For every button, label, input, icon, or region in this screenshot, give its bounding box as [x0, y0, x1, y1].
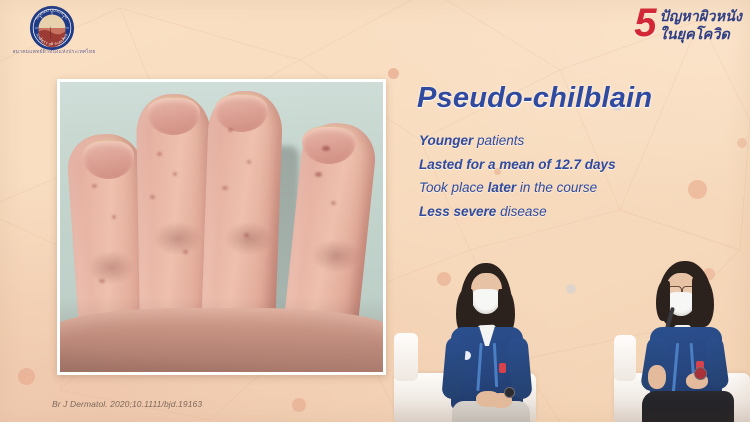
sofa-left-back: [394, 333, 418, 381]
bullet-list: Younger patients Lasted for a mean of 12…: [419, 133, 729, 228]
thai-series-header: 5 ปัญหาผิวหนัง ในยุคโควิด: [634, 5, 742, 44]
trousers-right: [642, 391, 734, 422]
presentation-slide: DERMATOLOGICAL SOCIETY OF THAILAND สมาคม…: [0, 0, 750, 422]
bullet-3-strong: later: [488, 180, 517, 195]
bullet-item-2: Lasted for a mean of 12.7 days: [419, 157, 729, 173]
wristwatch-right: [694, 367, 707, 380]
bullet-item-4: Less severe disease: [419, 204, 729, 220]
bullet-2-strong: Lasted for a mean of 12.7 days: [419, 157, 616, 172]
bullet-3-rest: in the course: [516, 180, 597, 195]
studio-video-overlay: [392, 255, 750, 422]
series-title-line-2: ในยุคโควิด: [660, 27, 742, 44]
wristwatch-left: [504, 387, 515, 398]
series-number: 5: [634, 5, 655, 42]
bullet-1-rest: patients: [473, 133, 524, 148]
bullet-4-strong: Less severe: [419, 204, 496, 219]
clinical-photo: [60, 82, 383, 372]
society-logo: DERMATOLOGICAL SOCIETY OF THAILAND สมาคม…: [8, 3, 100, 61]
page-title: Pseudo-chilblain: [417, 82, 652, 115]
photo-citation: Br J Dermatol. 2020;10.1111/bjd.19163: [52, 399, 202, 409]
society-logo-icon: DERMATOLOGICAL SOCIETY OF THAILAND: [26, 5, 78, 51]
bullet-item-3: Took place later in the course: [419, 180, 729, 196]
speaker-right: [634, 261, 746, 422]
sofa-right-back: [614, 335, 636, 381]
series-title-line-1: ปัญหาผิวหนัง: [660, 9, 742, 26]
shirt-badge-left: [499, 363, 506, 373]
clinical-photo-frame: [57, 79, 386, 375]
speaker-left: [438, 263, 550, 422]
bullet-3-pre: Took place: [419, 180, 488, 195]
bullet-4-rest: disease: [496, 204, 546, 219]
bullet-item-1: Younger patients: [419, 133, 729, 149]
bullet-1-strong: Younger: [419, 133, 473, 148]
society-logo-caption: สมาคมแพทย์ผิวหนังแห่งประเทศไทย: [8, 48, 100, 56]
